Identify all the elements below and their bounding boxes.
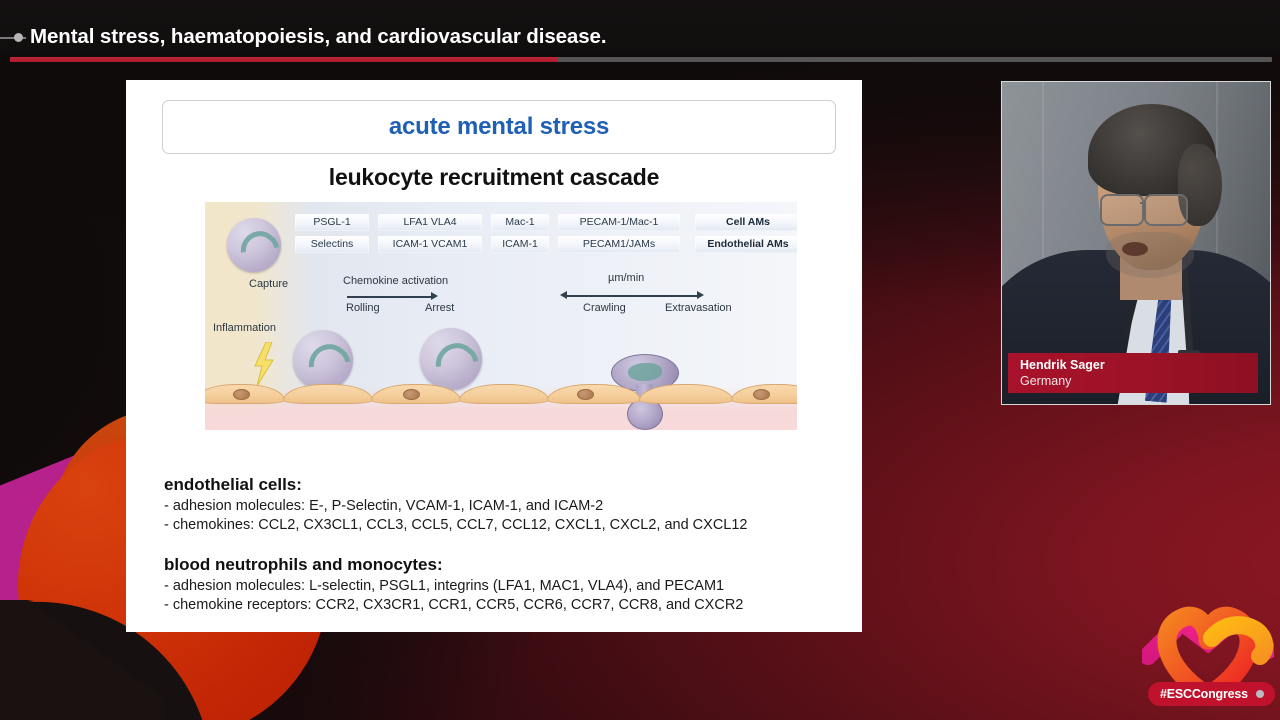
endothelial-nucleus: [577, 389, 594, 400]
speaker-glasses-bridge: [1140, 202, 1146, 204]
chip-lfa1-vla4: LFA1 VLA4: [378, 214, 482, 231]
label-speed: µm/min: [608, 272, 644, 284]
arrow-crawl-head-right: [697, 291, 704, 299]
speaker-glasses-right-lens: [1144, 194, 1188, 226]
label-arrest: Arrest: [425, 302, 454, 314]
speaker-beard: [1106, 232, 1194, 278]
inflammation-bolt-icon: [253, 342, 275, 386]
broadcast-player: Mental stress, haematopoiesis, and cardi…: [0, 0, 1280, 720]
arrow-crawl-line: [567, 295, 697, 297]
figure-chip-row-bottom: Selectins ICAM-1 VCAM1 ICAM-1 PECAM1/JAM…: [295, 236, 797, 253]
arrow-chemokine-line: [347, 296, 431, 298]
label-extravasation: Extravasation: [665, 302, 732, 314]
endothelium-layer: [205, 374, 797, 404]
section-heading-blood: blood neutrophils and monocytes:: [164, 555, 443, 575]
page-title: Mental stress, haematopoiesis, and cardi…: [30, 25, 606, 49]
arrow-chemokine-head: [431, 292, 438, 300]
label-capture: Capture: [249, 278, 288, 290]
esc-hashtag-pill: #ESCCongress: [1148, 682, 1275, 706]
speaker-mouth: [1122, 242, 1148, 256]
section-line: - chemokines: CCL2, CX3CL1, CCL3, CCL5, …: [164, 517, 747, 533]
section-line: - adhesion molecules: L-selectin, PSGL1,…: [164, 578, 724, 594]
figure-chip-row-top: PSGL-1 LFA1 VLA4 Mac-1 PECAM-1/Mac-1 Cel…: [295, 214, 797, 231]
leukocyte-cascade-figure: PSGL-1 LFA1 VLA4 Mac-1 PECAM-1/Mac-1 Cel…: [205, 202, 797, 430]
playback-progress-bar[interactable]: [10, 57, 1272, 62]
label-inflammation: Inflammation: [213, 322, 276, 334]
speaker-glasses-left-lens: [1100, 194, 1144, 226]
chip-cell-ams: Cell AMs: [695, 214, 797, 231]
label-crawling: Crawling: [583, 302, 626, 314]
section-line: - adhesion molecules: E-, P-Selectin, VC…: [164, 498, 603, 514]
leukocyte-cell-free: [227, 218, 281, 272]
chip-pecam1-jams: PECAM1/JAMs: [558, 236, 680, 253]
speaker-name: Hendrik Sager: [1020, 357, 1258, 373]
section-heading-endothelial: endothelial cells:: [164, 475, 302, 495]
endothelial-cell: [547, 384, 641, 404]
endothelial-nucleus: [753, 389, 770, 400]
chip-mac1: Mac-1: [491, 214, 549, 231]
chip-icam1-vcam1: ICAM-1 VCAM1: [378, 236, 482, 253]
header-bullet-dot-icon: [14, 33, 23, 42]
header-bar: Mental stress, haematopoiesis, and cardi…: [0, 0, 1280, 56]
slide-subtitle: leukocyte recruitment cascade: [126, 164, 862, 191]
chip-selectins: Selectins: [295, 236, 369, 253]
slide-title: acute mental stress: [389, 113, 609, 141]
chip-pecam1-mac1: PECAM-1/Mac-1: [558, 214, 680, 231]
endothelial-cell: [639, 384, 733, 404]
playback-progress-fill: [10, 57, 558, 62]
chip-psgl1: PSGL-1: [295, 214, 369, 231]
speaker-country: Germany: [1020, 373, 1258, 389]
endothelial-cell: [459, 384, 549, 404]
endothelial-cell: [283, 384, 373, 404]
endothelial-nucleus: [233, 389, 250, 400]
arrow-crawl-head-left: [560, 291, 567, 299]
slide-title-box: acute mental stress: [162, 100, 836, 154]
label-rolling: Rolling: [346, 302, 380, 314]
speaker-nameplate: Hendrik Sager Germany: [1008, 353, 1258, 393]
chip-endothelial-ams: Endothelial AMs: [695, 236, 797, 253]
endothelial-nucleus: [403, 389, 420, 400]
presentation-slide: acute mental stress leukocyte recruitmen…: [126, 80, 862, 632]
label-chemokine-activation: Chemokine activation: [343, 275, 448, 287]
section-line: - chemokine receptors: CCR2, CX3CR1, CCR…: [164, 597, 743, 613]
chip-icam1: ICAM-1: [491, 236, 549, 253]
esc-pill-dot-icon: [1256, 690, 1264, 698]
esc-hashtag-label: #ESCCongress: [1160, 687, 1248, 701]
